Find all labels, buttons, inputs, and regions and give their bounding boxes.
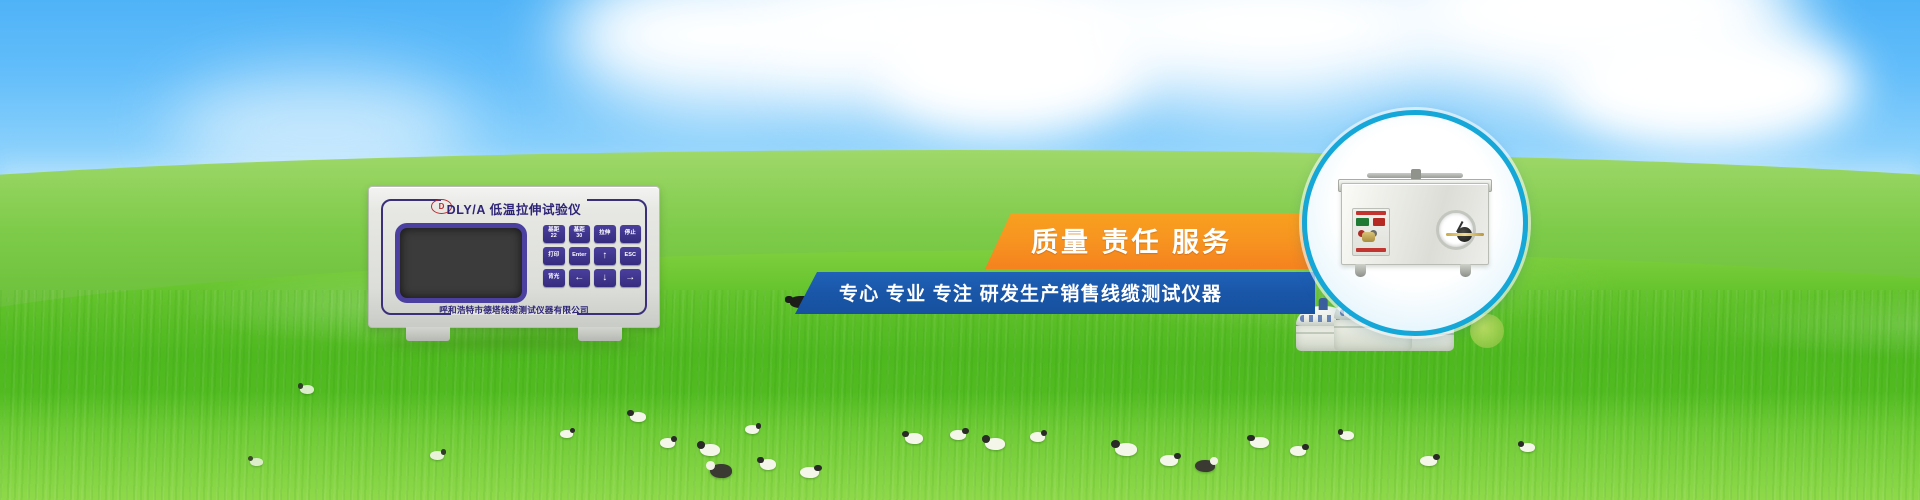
sheep (745, 425, 759, 434)
panel-display-green (1356, 218, 1369, 226)
sheep (760, 459, 776, 470)
instrument-keypad[interactable]: 基距 22 基距 30 拉伸 停止 打印 Enter (543, 225, 641, 287)
key-enter[interactable]: Enter (569, 247, 591, 265)
key-print[interactable]: 打印 (543, 247, 565, 265)
sheep (1520, 443, 1535, 452)
sheep (950, 430, 966, 440)
instrument-foot-left (406, 327, 450, 341)
key-label: ↑ (602, 251, 607, 262)
key-sublabel: 22 (551, 234, 557, 240)
company-promo-banner: D DLY/A 低温拉伸试验仪 基距 22 基距 30 拉伸 停止 (0, 0, 1920, 500)
secondary-slogan-ribbon: 专心 专业 专注 研发生产销售线缆测试仪器 (795, 272, 1315, 314)
product-circle-frame (1302, 110, 1528, 336)
key-label: ← (574, 273, 584, 284)
panel-display-red (1373, 218, 1385, 226)
sheep (430, 451, 444, 460)
sheep (660, 438, 675, 448)
sheep-dark (710, 464, 732, 478)
instrument-company-name: 呼和浩特市德塔线缆测试仪器有限公司 (369, 304, 659, 316)
secondary-slogan-text: 专心 专业 专注 研发生产销售线缆测试仪器 (839, 279, 1222, 306)
chamber-small-knob (1362, 232, 1375, 242)
instrument-lcd-screen (395, 223, 527, 303)
foreground-grass (0, 392, 1920, 500)
key-stop[interactable]: 停止 (620, 225, 642, 243)
sheep (905, 433, 923, 444)
instrument-dly-a: D DLY/A 低温拉伸试验仪 基距 22 基距 30 拉伸 停止 (368, 186, 660, 328)
sheep (1160, 455, 1178, 466)
sheep (800, 467, 819, 478)
tree-shrub (1470, 314, 1504, 348)
aging-test-chamber-image (1341, 173, 1489, 277)
key-arrow-down[interactable]: ↓ (594, 269, 616, 287)
instrument-model-title: DLY/A 低温拉伸试验仪 (369, 199, 659, 218)
chamber-caster-left (1355, 264, 1366, 277)
sheep (300, 385, 314, 394)
sheep (560, 430, 573, 438)
key-label: ESC (624, 253, 636, 259)
sheep (1340, 431, 1354, 440)
cloud-shape (1560, 20, 1860, 150)
chamber-valve-knob (1457, 227, 1472, 242)
key-arrow-up[interactable]: ↑ (594, 247, 616, 265)
sheep (630, 412, 646, 422)
sheep (1290, 446, 1306, 456)
key-sublabel: 30 (576, 234, 582, 240)
key-label: ↓ (602, 273, 607, 284)
key-stretch[interactable]: 拉伸 (594, 225, 616, 243)
chamber-caster-right (1460, 264, 1471, 277)
primary-slogan-ribbon: 质量 责任 服务 (985, 213, 1315, 269)
key-arrow-left[interactable]: ← (569, 269, 591, 287)
key-jiju-22[interactable]: 基距 22 (543, 225, 565, 243)
sheep (250, 458, 263, 466)
key-arrow-right[interactable]: → (620, 269, 642, 287)
panel-top-label (1356, 211, 1386, 215)
instrument-foot-right (578, 327, 622, 341)
chamber-handle-bar (1367, 173, 1463, 178)
key-label: 停止 (625, 231, 636, 237)
key-backlight[interactable]: 背光 (543, 269, 565, 287)
panel-bottom-label (1356, 248, 1386, 252)
sheep (1030, 432, 1045, 442)
key-label: 打印 (548, 253, 559, 259)
sheep-dark (1195, 460, 1215, 472)
chamber-body (1341, 183, 1489, 265)
key-label: 拉伸 (599, 231, 610, 237)
sheep (985, 438, 1005, 450)
sheep (1250, 437, 1269, 448)
instrument-case: D DLY/A 低温拉伸试验仪 基距 22 基距 30 拉伸 停止 (368, 186, 660, 328)
key-label: → (625, 273, 635, 284)
sheep (1420, 456, 1437, 466)
sheep (700, 444, 720, 456)
sheep (1115, 443, 1137, 456)
primary-slogan-text: 质量 责任 服务 (1031, 221, 1232, 260)
key-label: Enter (572, 253, 586, 259)
key-esc[interactable]: ESC (620, 247, 642, 265)
key-jiju-30[interactable]: 基距 30 (569, 225, 591, 243)
key-label: 背光 (548, 275, 559, 281)
